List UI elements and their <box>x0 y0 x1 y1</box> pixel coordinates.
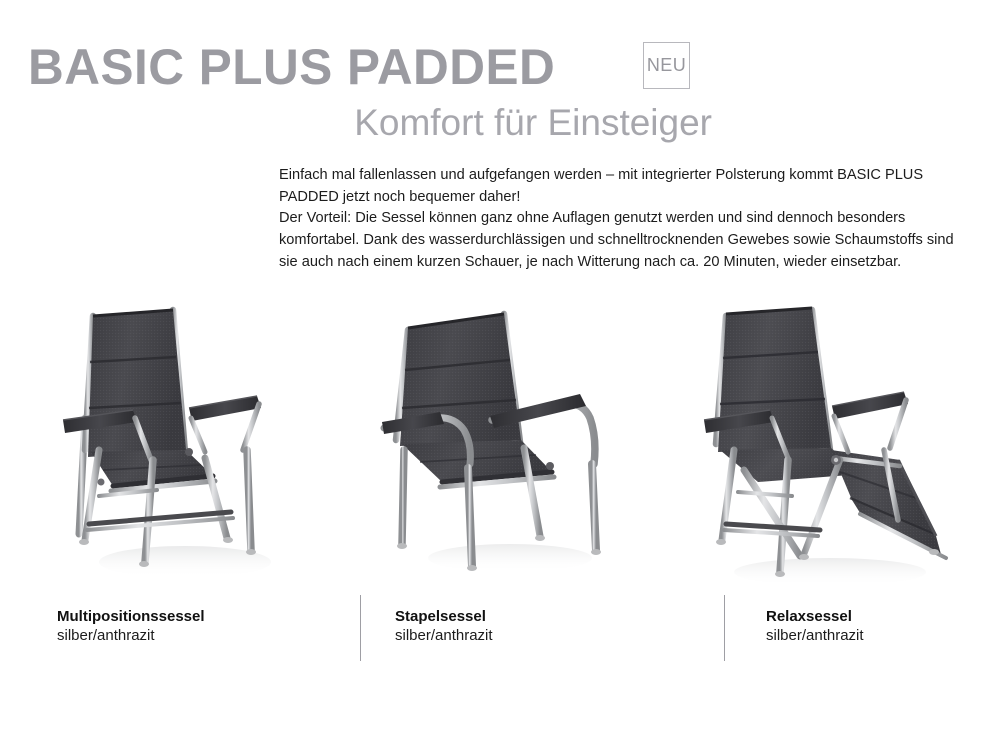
product-sheet-page: BASIC PLUS PADDED NEU Komfort für Einste… <box>0 0 1000 750</box>
chair-reflection <box>428 544 592 572</box>
product-caption-stacking-chair: Stapelsessel silber/anthrazit <box>395 607 493 646</box>
product-image-relax-chair <box>700 300 990 600</box>
page-title: BASIC PLUS PADDED <box>28 42 555 92</box>
description-block: Einfach mal fallenlassen und aufgefangen… <box>279 165 959 274</box>
description-paragraph-2: Der Vorteil: Die Sessel können ganz ohne… <box>279 208 959 273</box>
page-header: BASIC PLUS PADDED NEU Komfort für Einste… <box>0 0 1000 155</box>
caption-divider-2 <box>724 595 725 661</box>
product-name: Stapelsessel <box>395 607 493 626</box>
armrest-right <box>189 396 261 421</box>
multiposition-chair-image <box>55 300 345 600</box>
product-caption-row: Multipositionssessel silber/anthrazit St… <box>0 595 1000 665</box>
product-name: Relaxsessel <box>766 607 864 626</box>
product-variant: silber/anthrazit <box>57 626 205 646</box>
armrest-right <box>832 392 908 419</box>
stacking-chair-image <box>380 300 670 600</box>
status-badge-neu: NEU <box>643 42 690 89</box>
product-image-row <box>0 300 1000 600</box>
caption-divider-1 <box>360 595 361 661</box>
product-name: Multipositionssessel <box>57 607 205 626</box>
description-paragraph-1: Einfach mal fallenlassen und aufgefangen… <box>279 165 959 208</box>
product-variant: silber/anthrazit <box>766 626 864 646</box>
relax-chair-image <box>700 300 990 600</box>
product-image-multiposition-chair <box>55 300 345 600</box>
product-caption-relax-chair: Relaxsessel silber/anthrazit <box>766 607 864 646</box>
product-image-stacking-chair <box>380 300 670 600</box>
product-variant: silber/anthrazit <box>395 626 493 646</box>
product-caption-multiposition-chair: Multipositionssessel silber/anthrazit <box>57 607 205 646</box>
page-subtitle: Komfort für Einsteiger <box>354 104 712 141</box>
chair-reflection <box>734 558 926 586</box>
chair-reflection <box>99 546 271 578</box>
